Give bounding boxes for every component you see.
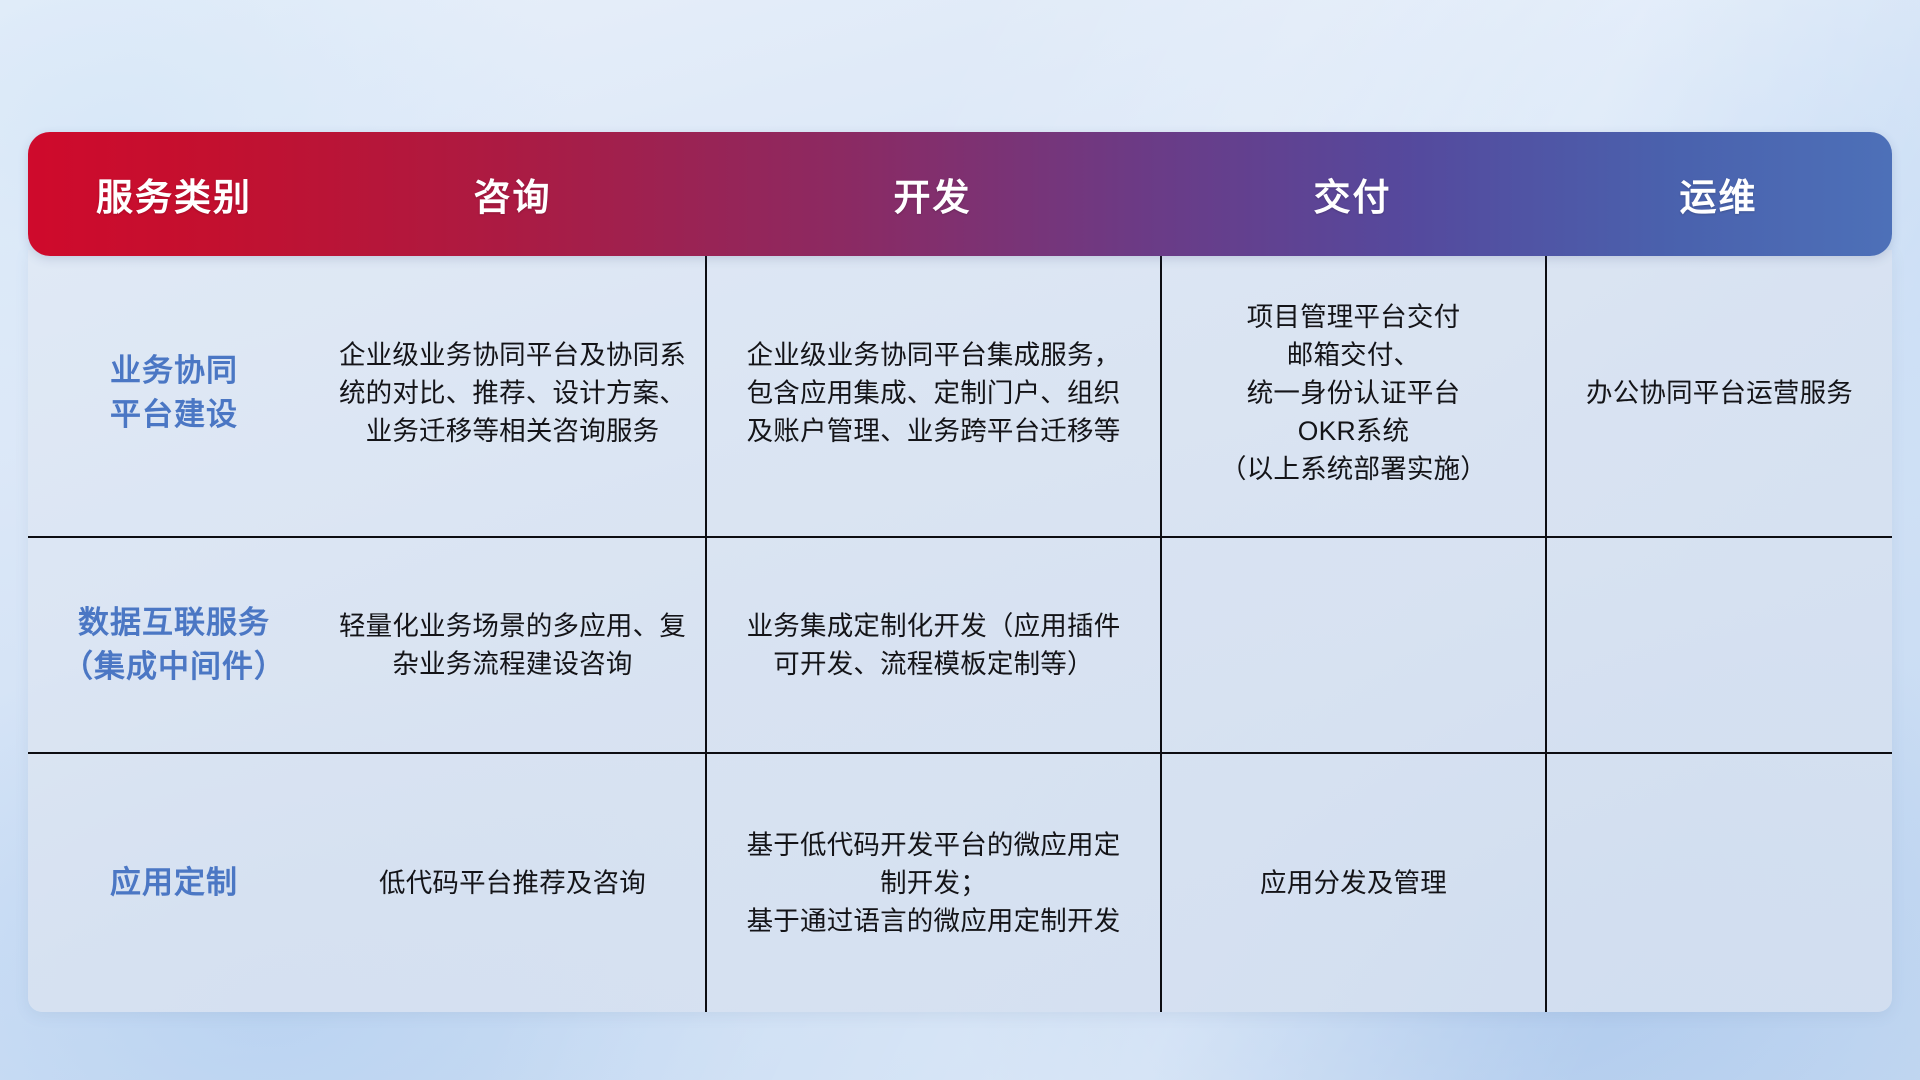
cell-category: 业务协同 平台建设 [28,250,320,536]
table-row: 业务协同 平台建设 企业级业务协同平台及协同系 统的对比、推荐、设计方案、 业务… [28,250,1892,536]
column-header-delivery: 交付 [1160,167,1545,221]
cell-consulting: 轻量化业务场景的多应用、复 杂业务流程建设咨询 [320,538,705,752]
cell-value: 企业级业务协同平台及协同系 统的对比、推荐、设计方案、 业务迁移等相关咨询服务 [339,336,686,450]
cell-consulting: 低代码平台推荐及咨询 [320,754,705,1012]
cell-operations [1545,754,1892,1012]
column-header-operations: 运维 [1545,167,1892,221]
category-label: 应用定制 [110,861,238,905]
column-header-consulting: 咨询 [320,167,705,221]
column-header-category: 服务类别 [28,167,320,221]
cell-value: 轻量化业务场景的多应用、复 杂业务流程建设咨询 [339,607,686,683]
table-header-row: 服务类别 咨询 开发 交付 运维 [28,132,1892,256]
cell-value: 低代码平台推荐及咨询 [379,864,646,902]
cell-category: 数据互联服务 （集成中间件） [28,538,320,752]
cell-delivery [1160,538,1545,752]
cell-operations: 办公协同平台运营服务 [1545,250,1892,536]
cell-development: 业务集成定制化开发（应用插件 可开发、流程模板定制等） [705,538,1160,752]
cell-value: 基于低代码开发平台的微应用定 制开发； 基于通过语言的微应用定制开发 [747,826,1121,940]
cell-value: 项目管理平台交付 邮箱交付、 统一身份认证平台 OKR系统 （以上系统部署实施） [1220,298,1487,489]
cell-value: 业务集成定制化开发（应用插件 可开发、流程模板定制等） [747,607,1121,683]
cell-consulting: 企业级业务协同平台及协同系 统的对比、推荐、设计方案、 业务迁移等相关咨询服务 [320,250,705,536]
cell-category: 应用定制 [28,754,320,1012]
slide-canvas: 服务类别 咨询 开发 交付 运维 业务协同 平台建设 企业级业务协同平台及协同系… [0,0,1920,1080]
table-row: 数据互联服务 （集成中间件） 轻量化业务场景的多应用、复 杂业务流程建设咨询 业… [28,536,1892,752]
cell-value: 应用分发及管理 [1260,864,1447,902]
service-category-table: 服务类别 咨询 开发 交付 运维 业务协同 平台建设 企业级业务协同平台及协同系… [28,132,1892,1012]
cell-development: 企业级业务协同平台集成服务， 包含应用集成、定制门户、组织 及账户管理、业务跨平… [705,250,1160,536]
category-label: 业务协同 平台建设 [110,349,238,437]
column-header-development: 开发 [705,167,1160,221]
cell-delivery: 应用分发及管理 [1160,754,1545,1012]
cell-development: 基于低代码开发平台的微应用定 制开发； 基于通过语言的微应用定制开发 [705,754,1160,1012]
cell-value: 企业级业务协同平台集成服务， 包含应用集成、定制门户、组织 及账户管理、业务跨平… [747,336,1121,450]
category-label: 数据互联服务 （集成中间件） [62,601,286,689]
table-row: 应用定制 低代码平台推荐及咨询 基于低代码开发平台的微应用定 制开发； 基于通过… [28,752,1892,1012]
cell-value: 办公协同平台运营服务 [1586,374,1853,412]
cell-operations [1545,538,1892,752]
table-body: 业务协同 平台建设 企业级业务协同平台及协同系 统的对比、推荐、设计方案、 业务… [28,250,1892,1012]
cell-delivery: 项目管理平台交付 邮箱交付、 统一身份认证平台 OKR系统 （以上系统部署实施） [1160,250,1545,536]
